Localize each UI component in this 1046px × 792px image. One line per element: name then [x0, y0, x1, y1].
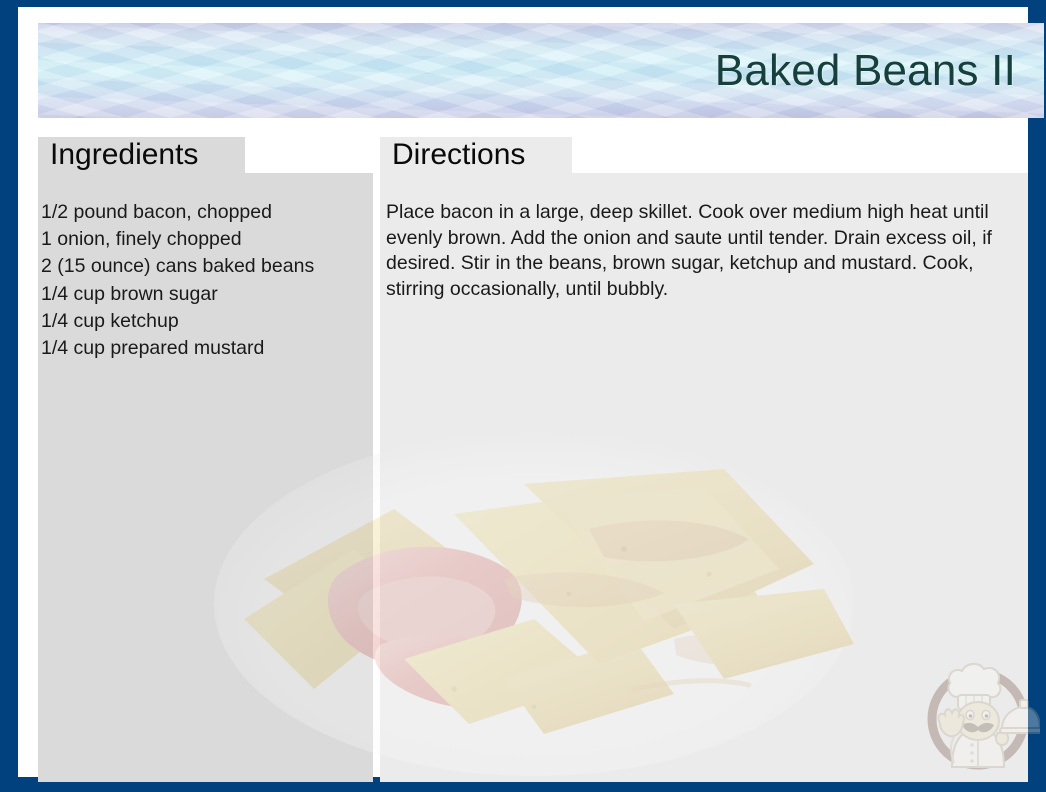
- slide-inner-surface: Baked Beans II: [18, 7, 1028, 777]
- recipe-slide: Baked Beans II: [0, 0, 1046, 792]
- list-item: 1/2 pound bacon, chopped: [41, 199, 371, 226]
- ingredients-list: 1/2 pound bacon, chopped 1 onion, finely…: [41, 199, 371, 362]
- chef-logo-icon: [916, 645, 1040, 771]
- header-banner: Baked Beans II: [38, 23, 1044, 118]
- tab-directions-label: Directions: [392, 138, 525, 172]
- list-item: 1/4 cup prepared mustard: [41, 335, 371, 362]
- list-item: 1/4 cup ketchup: [41, 308, 371, 335]
- tab-ingredients[interactable]: Ingredients: [38, 137, 245, 173]
- tab-ingredients-label: Ingredients: [50, 138, 198, 172]
- list-item: 2 (15 ounce) cans baked beans: [41, 253, 371, 280]
- list-item: 1 onion, finely chopped: [41, 226, 371, 253]
- recipe-title: Baked Beans II: [715, 47, 1016, 93]
- list-item: 1/4 cup brown sugar: [41, 281, 371, 308]
- tab-directions[interactable]: Directions: [380, 137, 572, 173]
- directions-text: Place bacon in a large, deep skillet. Co…: [386, 200, 1014, 302]
